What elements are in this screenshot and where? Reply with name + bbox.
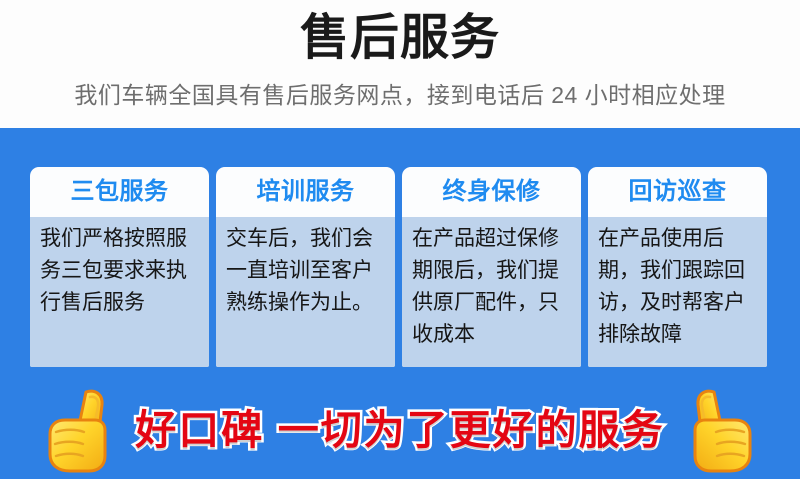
slogan-text: 好口碑 一切为了更好的服务 [135, 404, 664, 456]
card-body: 在产品使用后期，我们跟踪回访，及时帮客户排除故障 [588, 217, 767, 367]
promo-banner-page: 售后服务 我们车辆全国具有售后服务网点，接到电话后 24 小时相应处理 三包服务… [0, 0, 800, 479]
card-description: 在产品超过保修期限后，我们提供原厂配件，只收成本 [412, 223, 571, 351]
card-body: 在产品超过保修期限后，我们提供原厂配件，只收成本 [402, 217, 581, 367]
service-card-san-bao: 三包服务 我们严格按照服务三包要求来执行售后服务 [30, 167, 209, 367]
service-card-lifetime-warranty: 终身保修 在产品超过保修期限后，我们提供原厂配件，只收成本 [402, 167, 581, 367]
card-title: 回访巡查 [629, 178, 727, 206]
card-header: 三包服务 [30, 167, 209, 217]
card-title: 三包服务 [71, 178, 169, 206]
service-cards-row: 三包服务 我们严格按照服务三包要求来执行售后服务 培训服务 交车后，我们会一直培… [30, 167, 770, 367]
card-title: 终身保修 [443, 178, 541, 206]
card-body: 交车后，我们会一直培训至客户熟练操作为止。 [216, 217, 395, 367]
card-description: 交车后，我们会一直培训至客户熟练操作为止。 [226, 223, 385, 319]
thumbs-up-icon [681, 386, 755, 474]
header-section: 售后服务 我们车辆全国具有售后服务网点，接到电话后 24 小时相应处理 [0, 0, 800, 128]
thumbs-up-icon [45, 386, 119, 474]
page-subtitle: 我们车辆全国具有售后服务网点，接到电话后 24 小时相应处理 [0, 79, 800, 111]
card-header: 终身保修 [402, 167, 581, 217]
card-header: 培训服务 [216, 167, 395, 217]
card-body: 我们严格按照服务三包要求来执行售后服务 [30, 217, 209, 367]
service-card-follow-up: 回访巡查 在产品使用后期，我们跟踪回访，及时帮客户排除故障 [588, 167, 767, 367]
card-description: 我们严格按照服务三包要求来执行售后服务 [40, 223, 199, 319]
page-title: 售后服务 [0, 8, 800, 68]
service-card-training: 培训服务 交车后，我们会一直培训至客户熟练操作为止。 [216, 167, 395, 367]
card-header: 回访巡查 [588, 167, 767, 217]
card-title: 培训服务 [257, 178, 355, 206]
slogan-banner: 好口碑 一切为了更好的服务 [0, 380, 800, 479]
blue-content-section: 三包服务 我们严格按照服务三包要求来执行售后服务 培训服务 交车后，我们会一直培… [0, 128, 800, 479]
card-description: 在产品使用后期，我们跟踪回访，及时帮客户排除故障 [598, 223, 757, 351]
